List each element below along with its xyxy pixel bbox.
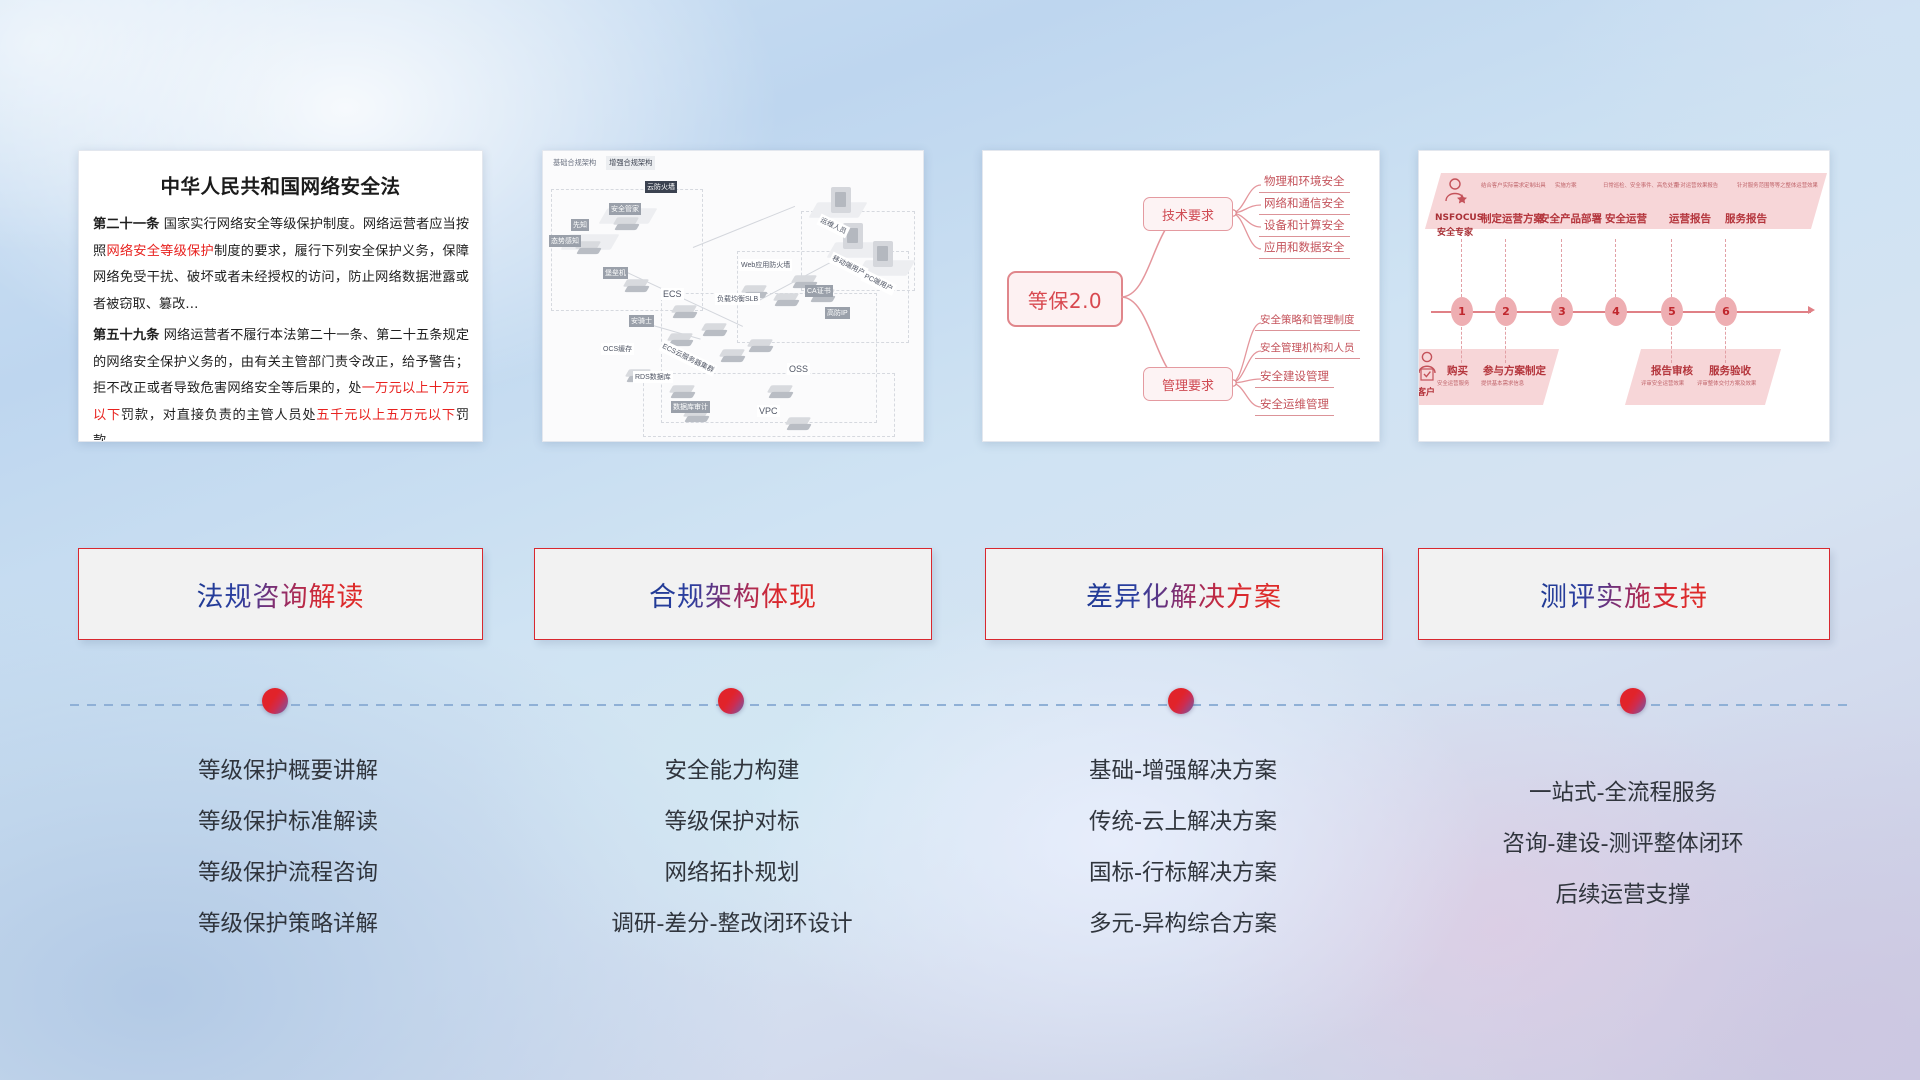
law-title: 中华人民共和国网络安全法 [79,170,482,199]
list-item: 安全能力构建 [534,746,930,797]
timeline-bottom-sub-1: 安全运营服务 [1437,379,1469,387]
headline-label-3: 差异化解决方案 [1086,575,1282,614]
list-item: 等级保护概要讲解 [78,746,498,797]
arch-label-vpc: VPC [757,405,780,417]
arch-label-slb: 负载均衡SLB [715,293,760,305]
mindmap-leaf-physical-env: 物理和环境安全 [1259,173,1350,193]
connector [693,206,795,248]
arch-label-cloud-firewall: 云防火墙 [645,181,677,193]
timeline-top-step-4: 运营报告 [1669,211,1711,226]
timeline-leader [1561,239,1562,297]
list-item: 调研-差分-整改闭环设计 [534,899,930,950]
law-article-59-highlight-2: 五千元以上五万元以下 [316,408,456,423]
mindmap-leaf-device-compute: 设备和计算安全 [1259,217,1350,237]
tab-basic-architecture[interactable]: 基础合规架构 [550,156,599,170]
mindmap-leaf-construction-mgmt: 安全建设管理 [1255,368,1334,388]
iso-node [749,337,775,357]
list-item: 后续运营支撑 [1418,870,1828,921]
arch-label-ocs-cache: OCS缓存 [601,343,634,355]
timeline-bottom-step-4: 服务验收 [1709,363,1751,378]
timeline-bottom-sub-4: 评审整体交付方案及效果 [1697,379,1756,387]
detail-column-1: 等级保护概要讲解 等级保护标准解读 等级保护流程咨询 等级保护策略详解 [78,746,498,950]
law-article-59-part2: 罚款，对直接负责的主管人员处 [121,408,316,423]
timeline-leader [1505,239,1506,297]
iso-server [831,187,851,213]
law-article-21-highlight: 网络安全等级保护 [106,244,214,259]
timeline-leader [1671,327,1672,363]
timeline-step-dot-5: 5 [1661,297,1683,326]
mindmap-leaf-network-comm: 网络和通信安全 [1259,195,1350,215]
arch-label-security-butler: 安全管家 [609,203,641,215]
card-mindmap-dengbao[interactable]: 等保2.0 技术要求 管理要求 物理和环境安全 [982,150,1380,442]
mindmap: 等保2.0 技术要求 管理要求 物理和环境安全 [983,151,1379,441]
headline-row: 法规咨询解读 合规架构体现 差异化解决方案 测评实施支持 [0,548,1920,646]
headline-box-regulation-consulting[interactable]: 法规咨询解读 [78,548,483,640]
headline-box-assessment-support[interactable]: 测评实施支持 [1418,548,1830,640]
timeline-leader [1461,239,1462,297]
timeline-bottom-step-3: 报告审核 [1651,363,1693,378]
list-item: 等级保护策略详解 [78,899,498,950]
timeline-top-sub-3: 日常巡检、安全事件、高危处置 [1603,181,1678,189]
timeline-step-dot-3: 3 [1551,297,1573,326]
customer-role: 客户 [1418,385,1435,398]
list-item: 多元-异构综合方案 [985,899,1381,950]
detail-column-2: 安全能力构建 等级保护对标 网络拓扑规划 调研-差分-整改闭环设计 [534,746,930,950]
timeline-node-2[interactable] [718,688,744,714]
timeline-leader [1505,327,1506,363]
timeline-leader [1615,239,1616,297]
card-nsfocus-timeline[interactable]: NSFOCUS 安全专家 客户 结合客户实际需求定制出具 实施方案 日常巡检、安… [1418,150,1830,442]
arch-label-situation-awareness: 态势感知 [549,235,581,247]
timeline-top-step-5: 服务报告 [1725,211,1767,226]
timeline-dotted-axis [70,704,1850,706]
headline-label-1: 法规咨询解读 [197,575,365,614]
list-item: 等级保护标准解读 [78,797,498,848]
iso-node [671,383,697,403]
arch-label-anqishi: 安骑士 [629,315,654,327]
mindmap-leaf-policy-system: 安全策略和管理制度 [1255,312,1360,331]
timeline-top-step-1: 制定运营方案 [1481,211,1544,226]
arch-label-rds-database: RDS数据库 [633,371,673,383]
card-compliance-architecture[interactable]: 基础合规架构 增强合规架构 [542,150,924,442]
security-expert-icon [1443,177,1469,211]
headline-label-4: 测评实施支持 [1540,575,1708,614]
law-article-21: 第二十一条 国家实行网络安全等级保护制度。网络运营者应当按照网络安全等级保护制度… [93,212,469,318]
iso-node [625,277,651,297]
timeline-top-step-3: 安全运营 [1605,211,1647,226]
timeline-bottom-band-right [1625,349,1781,405]
customer-icon [1418,351,1439,383]
arch-label-ca-cert: CA证书 [805,285,833,297]
timeline-step-dot-1: 1 [1451,297,1473,326]
arch-label-anti-ddos-ip: 高防IP [825,307,850,319]
arch-label-bastion-host: 堡垒机 [603,267,628,279]
timeline-top-sub-5: 针对服务范围等等之整体运营效果 [1737,181,1818,189]
list-item: 基础-增强解决方案 [985,746,1381,797]
mindmap-leaf-ops-mgmt: 安全运维管理 [1255,396,1334,416]
detail-column-3: 基础-增强解决方案 传统-云上解决方案 国标-行标解决方案 多元-异构综合方案 [985,746,1381,950]
detail-column-4: 一站式-全流程服务 咨询-建设-测评整体闭环 后续运营支撑 [1418,768,1828,921]
list-item: 咨询-建设-测评整体闭环 [1418,819,1828,870]
law-article-21-label: 第二十一条 [93,217,159,232]
mindmap-branch-management: 管理要求 [1143,367,1233,401]
law-body: 第二十一条 国家实行网络安全等级保护制度。网络运营者应当按照网络安全等级保护制度… [79,212,482,442]
arch-label-waf: Web应用防火墙 [739,259,792,271]
iso-node [769,383,795,403]
timeline-node-4[interactable] [1620,688,1646,714]
timeline-step-dot-6: 6 [1715,297,1737,326]
timeline-top-sub-2: 实施方案 [1555,181,1577,189]
timeline-top-sub-4: 针对运营效果报告 [1675,181,1718,189]
law-article-59-label: 第五十九条 [93,328,159,343]
timeline-bottom-sub-2: 提供基本需求信息 [1481,379,1524,387]
arch-label-oss: OSS [787,363,810,375]
screenshot-card-row: 中华人民共和国网络安全法 第二十一条 国家实行网络安全等级保护制度。网络运营者应… [0,150,1920,445]
headline-label-2: 合规架构体现 [649,575,817,614]
tab-enhanced-architecture[interactable]: 增强合规架构 [606,156,655,170]
arch-label-xianzhi: 先知 [571,219,589,231]
iso-node [673,303,699,323]
card-cybersecurity-law[interactable]: 中华人民共和国网络安全法 第二十一条 国家实行网络安全等级保护制度。网络运营者应… [78,150,483,442]
architecture-diagram: 基础合规架构 增强合规架构 [543,151,923,441]
list-item: 等级保护对标 [534,797,930,848]
list-item: 等级保护流程咨询 [78,848,498,899]
timeline-top-step-2: 安全产品部署 [1539,211,1602,226]
timeline-leader [1671,239,1672,297]
iso-node [787,415,813,435]
law-article-59: 第五十九条 网络运营者不履行本法第二十一条、第二十五条规定的网络安全保护义务的，… [93,323,469,442]
arch-label-db-audit: 数据库审计 [671,401,710,413]
mindmap-branch-technical: 技术要求 [1143,197,1233,231]
expert-role: 安全专家 [1437,225,1473,238]
service-timeline: NSFOCUS 安全专家 客户 结合客户实际需求定制出具 实施方案 日常巡检、安… [1419,151,1829,441]
timeline-leader [1725,327,1726,363]
iso-node [703,321,729,341]
mindmap-leaf-app-data: 应用和数据安全 [1259,239,1350,259]
iso-server [873,241,893,267]
timeline-leader [1461,327,1462,363]
list-item: 网络拓扑规划 [534,848,930,899]
timeline-step-dot-4: 4 [1605,297,1627,326]
timeline-step-dot-2: 2 [1495,297,1517,326]
timeline-node-3[interactable] [1168,688,1194,714]
iso-node [615,215,641,235]
headline-box-differentiated-solution[interactable]: 差异化解决方案 [985,548,1383,640]
timeline-bottom-sub-3: 评审安全运营效果 [1641,379,1684,387]
iso-node [721,347,747,367]
timeline-top-sub-1: 结合客户实际需求定制出具 [1481,181,1546,189]
expert-name: NSFOCUS [1435,213,1483,223]
list-item: 一站式-全流程服务 [1418,768,1828,819]
architecture-tabs: 基础合规架构 增强合规架构 [550,156,655,170]
mindmap-leaf-org-personnel: 安全管理机构和人员 [1255,340,1360,359]
list-item: 传统-云上解决方案 [985,797,1381,848]
timeline-node-1[interactable] [262,688,288,714]
iso-node [775,291,801,311]
timeline-bottom-step-2: 参与方案制定 [1483,363,1546,378]
timeline-bottom-step-1: 购买 [1447,363,1468,378]
arch-label-ecs: ECS [661,288,684,300]
timeline-leader [1725,239,1726,297]
list-item: 国标-行标解决方案 [985,848,1381,899]
timeline-arrow-icon [1808,306,1815,314]
headline-box-compliance-architecture[interactable]: 合规架构体现 [534,548,932,640]
